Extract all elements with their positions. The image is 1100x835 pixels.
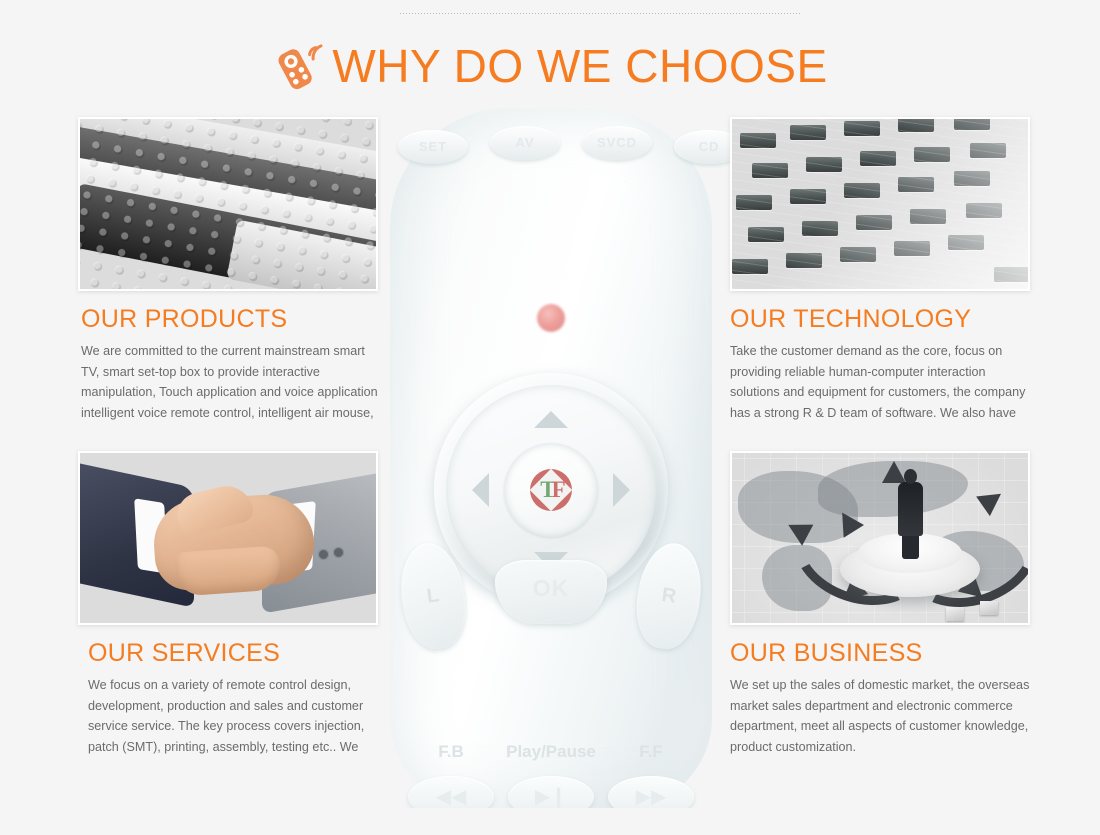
feature-card-business: OUR BUSINESS We set up the sales of dome… (730, 451, 1035, 757)
business-photo (730, 451, 1030, 625)
technology-body: Take the customer demand as the core, fo… (730, 341, 1035, 423)
feature-card-products: OUR PRODUCTS We are committed to the cur… (78, 117, 378, 423)
page-title-text: WHY DO WE CHOOSE (332, 43, 827, 89)
products-photo (78, 117, 378, 291)
remote-top-button-1: SET (398, 130, 468, 164)
remote-playpause-button: ▶❙ (508, 776, 594, 808)
products-body: We are committed to the current mainstre… (81, 341, 378, 423)
remote-top-button-3: SVCD (582, 126, 652, 160)
tf-brand-logo: TF (530, 469, 572, 511)
remote-rewind-button: ◀◀ (408, 776, 494, 808)
feature-card-technology: OUR TECHNOLOGY Take the customer demand … (730, 117, 1035, 423)
business-heading: OUR BUSINESS (730, 639, 1035, 668)
remote-dpad-hub: TF (504, 443, 598, 537)
remote-label-playpause: Play/Pause (496, 742, 606, 762)
technology-heading: OUR TECHNOLOGY (730, 305, 1035, 334)
remote-label-ff: F.F (596, 742, 706, 762)
remote-body: SET AV SVCD CD TF L R OK F. (390, 108, 712, 808)
remote-led-indicator (537, 304, 565, 332)
remote-top-button-2: AV (490, 126, 560, 160)
remote-background-illustration: SET AV SVCD CD TF L R OK F. (372, 108, 730, 808)
remote-control-signal-icon (272, 38, 328, 94)
dpad-left-icon (472, 473, 489, 507)
business-body: We set up the sales of domestic market, … (730, 675, 1035, 757)
products-heading: OUR PRODUCTS (81, 305, 378, 334)
remote-top-button-4: CD (674, 130, 730, 164)
dpad-right-icon (613, 473, 630, 507)
technology-photo (730, 117, 1030, 291)
services-photo (78, 451, 378, 625)
services-heading: OUR SERVICES (88, 639, 378, 668)
tf-logo-text: TF (540, 477, 561, 503)
feature-card-services: OUR SERVICES We focus on a variety of re… (78, 451, 378, 757)
services-body: We focus on a variety of remote control … (88, 675, 378, 757)
dpad-up-icon (534, 411, 568, 428)
remote-forward-button: ▶▶ (608, 776, 694, 808)
remote-top-button-row: SET AV SVCD CD (390, 124, 712, 170)
top-divider (400, 13, 800, 14)
remote-label-fb: F.B (396, 742, 506, 762)
remote-ok-button: OK (495, 560, 607, 624)
page-title: WHY DO WE CHOOSE (0, 38, 1100, 99)
